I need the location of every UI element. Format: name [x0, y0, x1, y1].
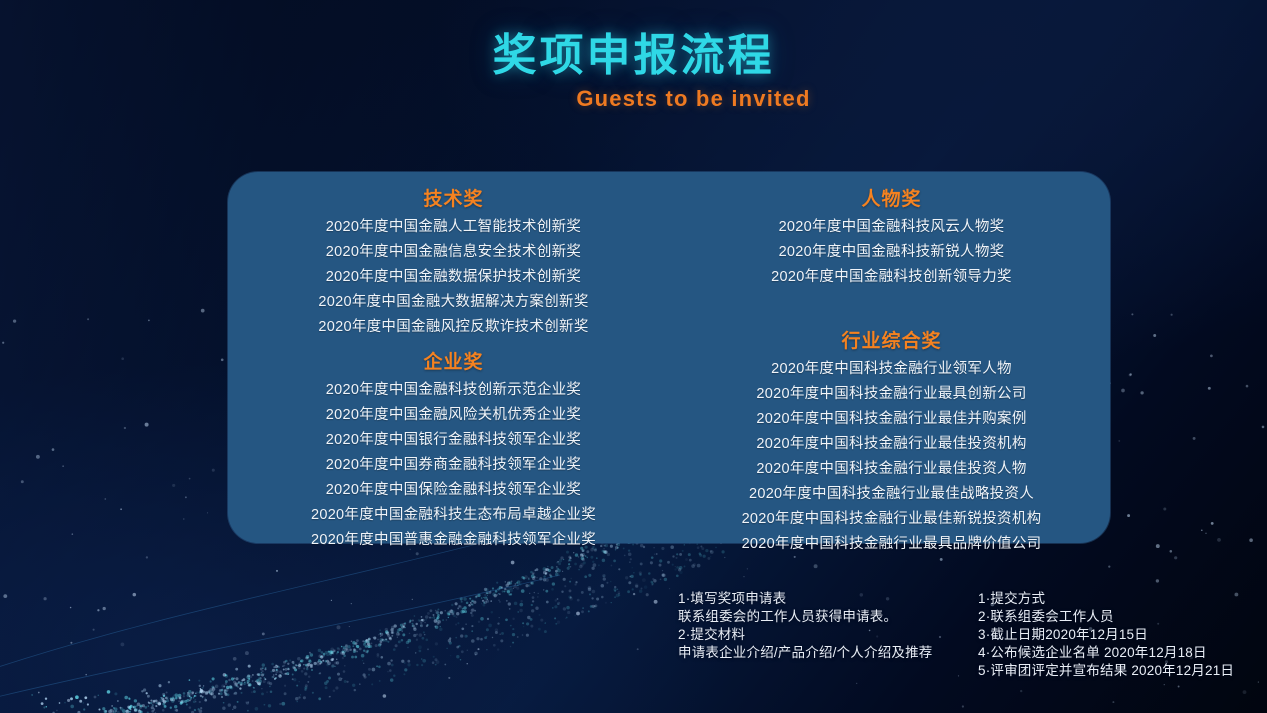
list-item: 2020年度中国金融科技新锐人物奖: [673, 240, 1110, 265]
page-subtitle: Guests to be invited: [0, 86, 1267, 112]
list-item: 2020年度中国金融科技创新示范企业奖: [238, 378, 669, 403]
note-line: 5·评审团评定并宣布结果 2020年12月21日: [978, 662, 1234, 680]
award-list-industry: 2020年度中国科技金融行业领军人物 2020年度中国科技金融行业最具创新公司 …: [673, 357, 1110, 557]
list-item: 2020年度中国科技金融行业最具品牌价值公司: [673, 532, 1110, 557]
section-heading-person: 人物奖: [673, 184, 1110, 211]
slide-header: 奖项申报流程 Guests to be invited: [0, 30, 1267, 128]
note-line: 1·提交方式: [978, 590, 1234, 608]
note-line: 申请表企业介绍/产品介绍/个人介绍及推荐: [678, 644, 933, 662]
list-item: 2020年度中国科技金融行业最佳投资人物: [673, 457, 1110, 482]
section-heading-technology: 技术奖: [238, 184, 669, 211]
list-item: 2020年度中国金融科技风云人物奖: [673, 215, 1110, 240]
list-item: 2020年度中国金融大数据解决方案创新奖: [238, 290, 669, 315]
list-item: 2020年度中国保险金融科技领军企业奖: [238, 478, 669, 503]
list-item: 2020年度中国券商金融科技领军企业奖: [238, 453, 669, 478]
award-list-person: 2020年度中国金融科技风云人物奖 2020年度中国金融科技新锐人物奖 2020…: [673, 215, 1110, 290]
list-item: 2020年度中国科技金融行业最佳战略投资人: [673, 482, 1110, 507]
note-line: 1·填写奖项申请表: [678, 590, 933, 608]
list-item: 2020年度中国科技金融行业最佳并购案例: [673, 407, 1110, 432]
list-item: 2020年度中国金融人工智能技术创新奖: [238, 215, 669, 240]
note-block-application-steps: 1·填写奖项申请表 联系组委会的工作人员获得申请表。 2·提交材料 申请表企业介…: [678, 590, 933, 662]
list-item: 2020年度中国金融风控反欺诈技术创新奖: [238, 315, 669, 340]
award-list-technology: 2020年度中国金融人工智能技术创新奖 2020年度中国金融信息安全技术创新奖 …: [238, 215, 669, 340]
note-line: 3·截止日期2020年12月15日: [978, 626, 1234, 644]
list-item: 2020年度中国科技金融行业最具创新公司: [673, 382, 1110, 407]
awards-panel: 技术奖 2020年度中国金融人工智能技术创新奖 2020年度中国金融信息安全技术…: [228, 172, 1110, 543]
awards-column-left: 技术奖 2020年度中国金融人工智能技术创新奖 2020年度中国金融信息安全技术…: [228, 172, 669, 543]
list-item: 2020年度中国金融信息安全技术创新奖: [238, 240, 669, 265]
note-line: 4·公布候选企业名单 2020年12月18日: [978, 644, 1234, 662]
note-block-schedule: 1·提交方式 2·联系组委会工作人员 3·截止日期2020年12月15日 4·公…: [978, 590, 1234, 680]
award-list-enterprise: 2020年度中国金融科技创新示范企业奖 2020年度中国金融风险关机优秀企业奖 …: [238, 378, 669, 553]
slide-root: 奖项申报流程 Guests to be invited 技术奖 2020年度中国…: [0, 0, 1267, 713]
list-item: 2020年度中国科技金融行业领军人物: [673, 357, 1110, 382]
note-line: 联系组委会的工作人员获得申请表。: [678, 608, 933, 626]
list-item: 2020年度中国科技金融行业最佳新锐投资机构: [673, 507, 1110, 532]
section-heading-industry: 行业综合奖: [673, 326, 1110, 353]
list-item: 2020年度中国银行金融科技领军企业奖: [238, 428, 669, 453]
list-item: 2020年度中国金融科技生态布局卓越企业奖: [238, 503, 669, 528]
title-underline-bar: [497, 121, 831, 128]
list-item: 2020年度中国金融风险关机优秀企业奖: [238, 403, 669, 428]
list-item: 2020年度中国金融数据保护技术创新奖: [238, 265, 669, 290]
list-item: 2020年度中国金融科技创新领导力奖: [673, 265, 1110, 290]
section-heading-enterprise: 企业奖: [238, 347, 669, 374]
note-line: 2·提交材料: [678, 626, 933, 644]
list-item: 2020年度中国科技金融行业最佳投资机构: [673, 432, 1110, 457]
awards-column-right: 人物奖 2020年度中国金融科技风云人物奖 2020年度中国金融科技新锐人物奖 …: [669, 172, 1110, 543]
list-item: 2020年度中国普惠金融金融科技领军企业奖: [238, 528, 669, 553]
page-title: 奖项申报流程: [0, 30, 1267, 82]
note-line: 2·联系组委会工作人员: [978, 608, 1234, 626]
